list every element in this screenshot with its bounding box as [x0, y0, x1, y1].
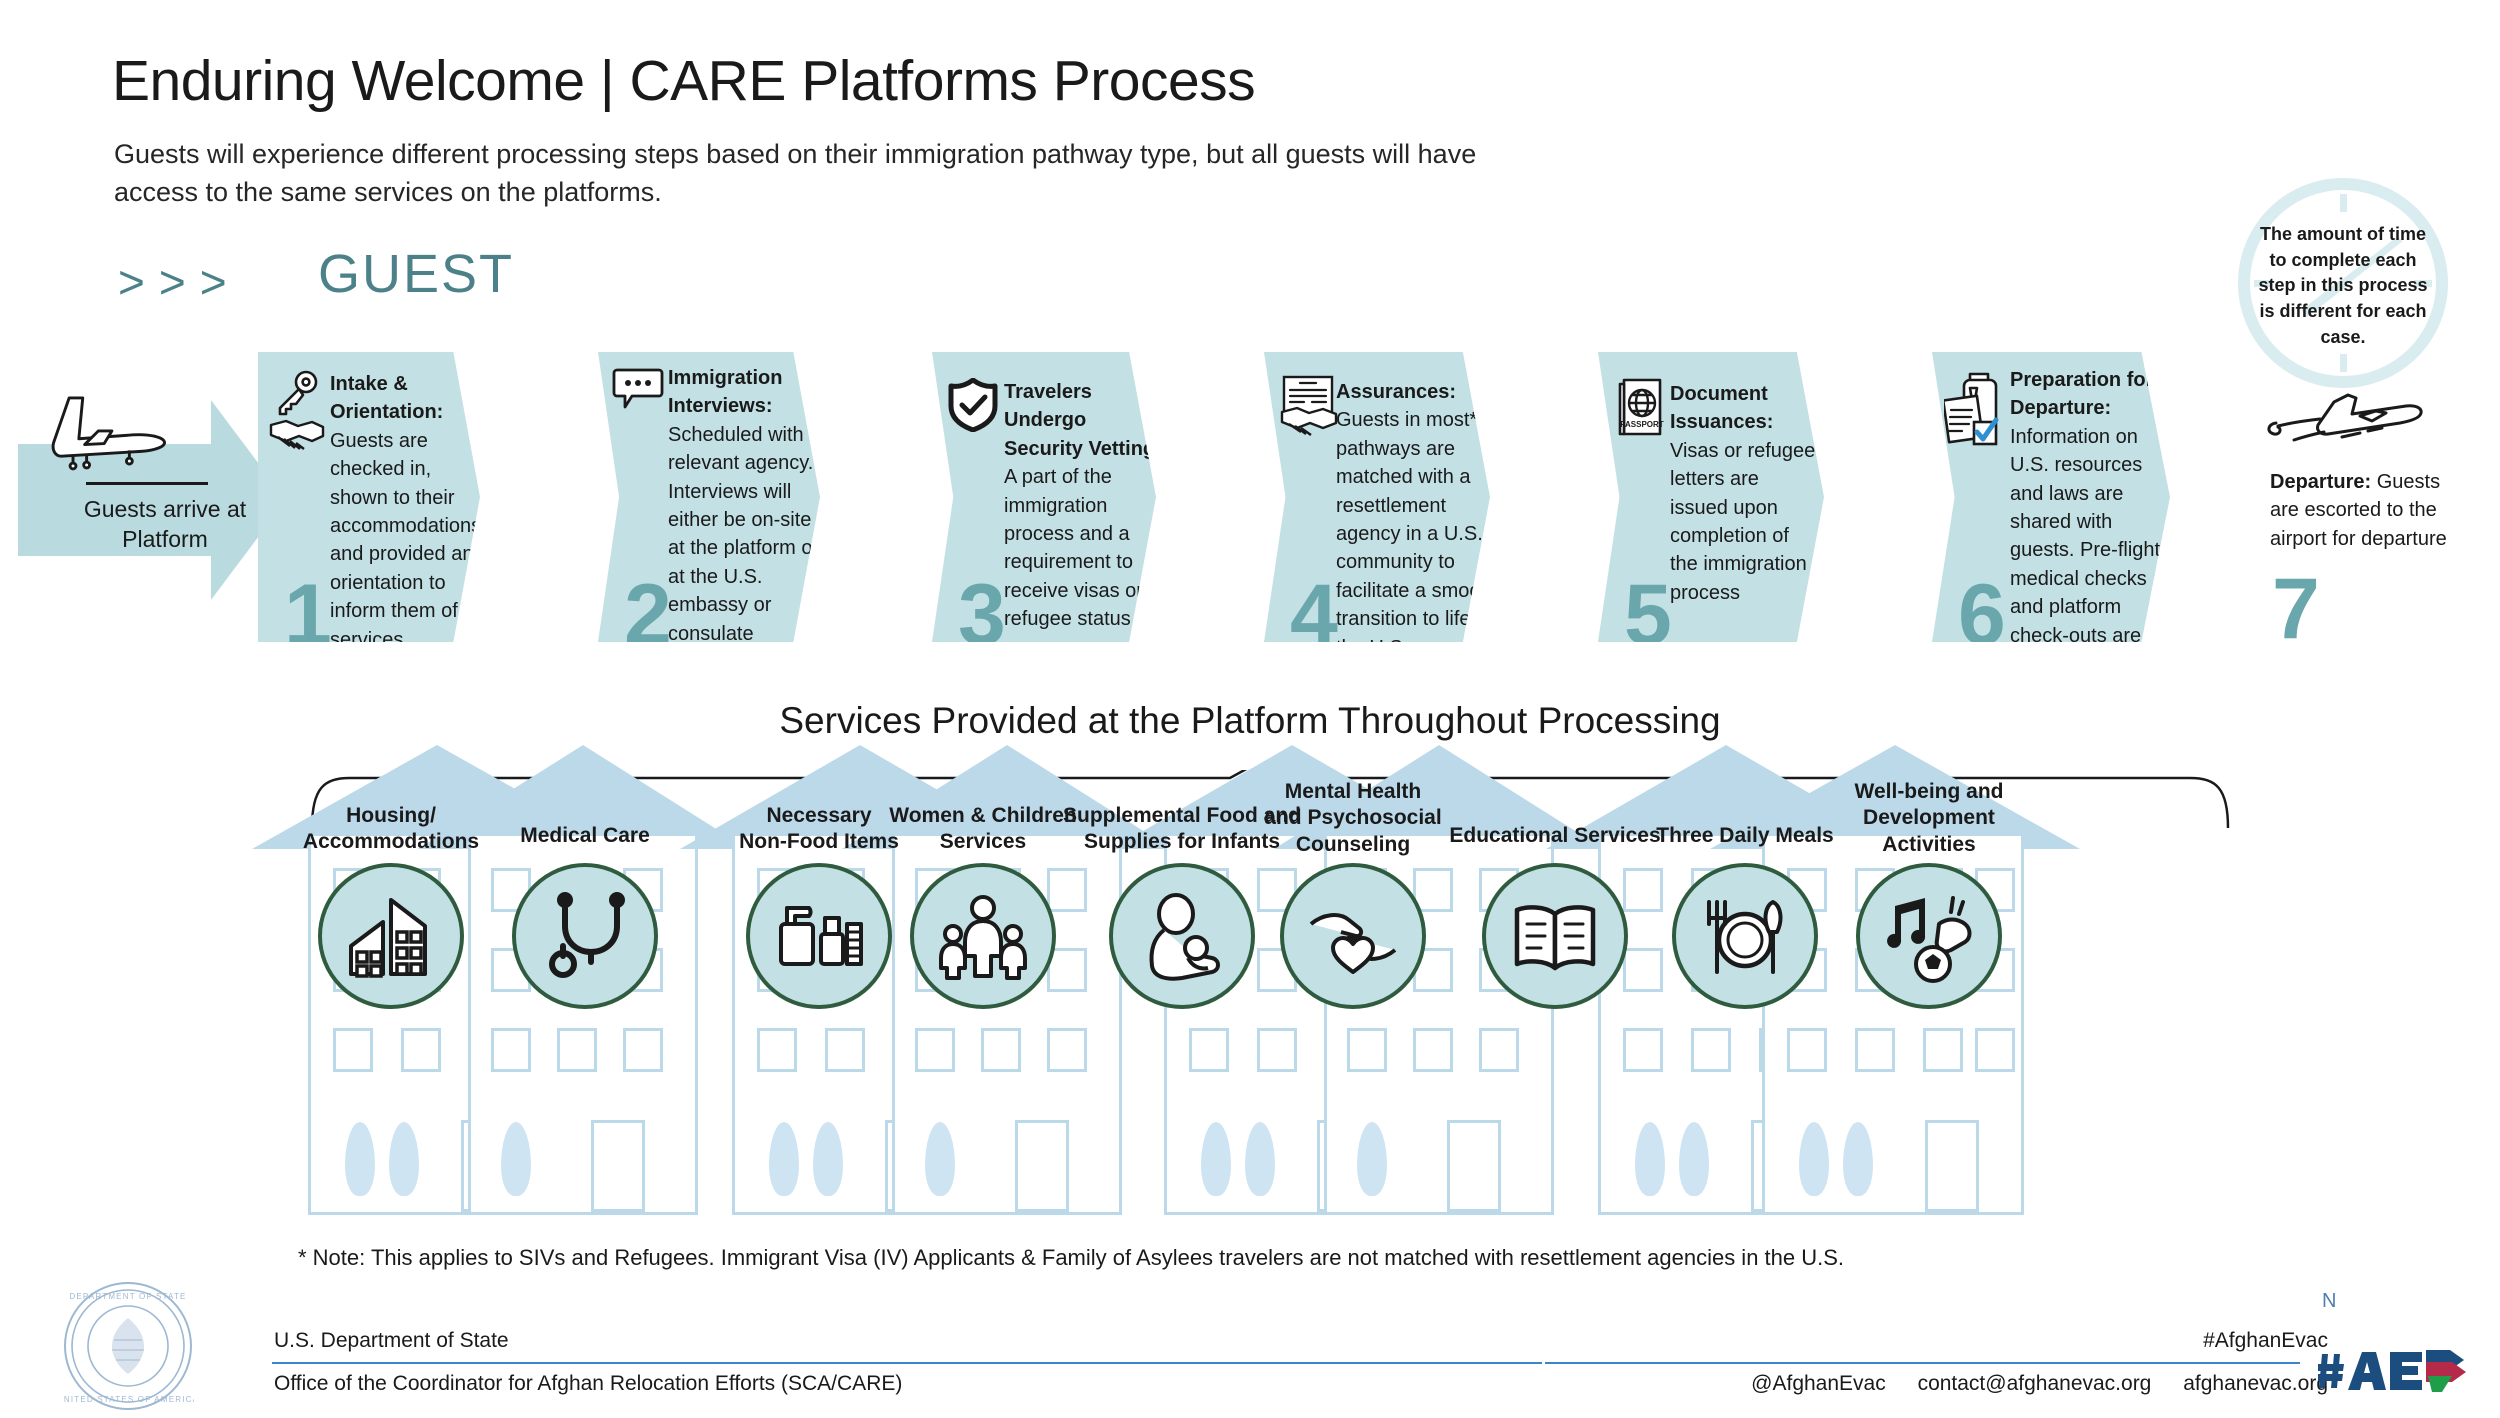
process-step-7[interactable]: Departure: Guests are escorted to the ai… — [2250, 400, 2500, 640]
step-1-body: Intake & Orientation: Guests are checked… — [330, 370, 478, 711]
step-3-number: 3 — [958, 572, 1006, 658]
step-1-text: Guests are checked in, shown to their ac… — [330, 430, 487, 708]
footer-website[interactable]: afghanevac.org — [2183, 1372, 2328, 1395]
process-step-4[interactable]: Assurances: Guests in most* pathways are… — [1264, 352, 1490, 642]
step-4-body: Assurances: Guests in most* pathways are… — [1336, 378, 1500, 662]
step-5-number: 5 — [1624, 572, 1672, 658]
clock-tick-icon — [2340, 354, 2347, 372]
step-4-text: Guests in most* pathways are matched wit… — [1336, 409, 1497, 658]
service-medical-care[interactable]: Medical Care — [460, 745, 710, 1045]
arrival-arrow: Guests arrive at Platform — [18, 400, 286, 600]
plate-cutlery-icon — [1672, 863, 1818, 1009]
arrival-caption: Guests arrive at Platform — [70, 495, 260, 555]
handshake-icon — [268, 414, 326, 456]
luggage-checklist-icon — [1944, 370, 2006, 448]
hands-heart-icon — [1280, 863, 1426, 1009]
department-of-state-seal: DEPARTMENT OF STATE UNITED STATES OF AME… — [62, 1280, 194, 1412]
clock-note-text: The amount of time to complete each step… — [2250, 222, 2436, 351]
clock-note: The amount of time to complete each step… — [2238, 178, 2448, 388]
services-section-title: Services Provided at the Platform Throug… — [0, 700, 2500, 742]
afghanevac-logo — [2318, 1340, 2468, 1402]
footer-office: Office of the Coordinator for Afghan Rel… — [274, 1372, 902, 1396]
airplane-landing-icon — [40, 388, 176, 472]
footnote: * Note: This applies to SIVs and Refugee… — [298, 1245, 1844, 1271]
step-3-text: A part of the immigration process and a … — [1004, 466, 1143, 630]
footer-handle[interactable]: @AfghanEvac — [1751, 1372, 1886, 1395]
music-ball-icon — [1856, 863, 2002, 1009]
step-5-body: Document Issuances: Visas or refugee let… — [1670, 380, 1822, 607]
infographic-canvas: Enduring Welcome | CARE Platforms Proces… — [0, 0, 2500, 1418]
footer-email[interactable]: contact@afghanevac.org — [1918, 1372, 2152, 1395]
process-step-6[interactable]: Preparation for Departure: Information o… — [1932, 352, 2170, 642]
step-2-number: 2 — [624, 572, 672, 658]
process-step-5[interactable]: PASSPORT Document Issuances: Visas or re… — [1598, 352, 1824, 642]
shield-check-icon — [948, 378, 998, 432]
step-7-heading: Departure: — [2270, 471, 2371, 493]
key-icon — [272, 368, 322, 418]
process-step-1[interactable]: Intake & Orientation: Guests are checked… — [258, 352, 480, 642]
step-7-body: Departure: Guests are escorted to the ai… — [2270, 468, 2470, 553]
n-mark: N — [2322, 1290, 2336, 1313]
footer-hashtag: #AfghanEvac — [2203, 1329, 2328, 1353]
step-6-number: 6 — [1958, 572, 2006, 658]
step-2-heading: Immigration Interviews: — [668, 367, 782, 417]
page-subtitle: Guests will experience different process… — [114, 135, 1514, 212]
service-label: Medical Care — [520, 823, 650, 849]
footer-rule — [272, 1362, 1542, 1364]
footer-rule — [1545, 1362, 2300, 1364]
stethoscope-icon — [512, 863, 658, 1009]
step-6-body: Preparation for Departure: Information o… — [2010, 366, 2175, 707]
chevron-arrows-icon: >>> — [118, 255, 241, 309]
service-wellbeing-development[interactable]: Well-being andDevelopmentActivities — [1804, 745, 2054, 1045]
step-3-body: Travelers Undergo Security Vetting: A pa… — [1004, 378, 1162, 634]
process-step-2[interactable]: Immigration Interviews: Scheduled with r… — [598, 352, 820, 642]
svg-text:UNITED STATES OF AMERICA: UNITED STATES OF AMERICA — [62, 1395, 194, 1404]
svg-text:DEPARTMENT OF STATE: DEPARTMENT OF STATE — [69, 1292, 186, 1301]
step-1-heading: Intake & Orientation: — [330, 373, 443, 423]
step-7-number: 7 — [2272, 566, 2320, 652]
svg-text:PASSPORT: PASSPORT — [1620, 420, 1664, 429]
step-6-heading: Preparation for Departure: — [2010, 369, 2153, 419]
airplane-takeoff-icon — [2264, 392, 2424, 462]
caption-rule — [86, 482, 208, 485]
step-3-heading: Travelers Undergo Security Vetting: — [1004, 381, 1162, 460]
process-step-3[interactable]: Travelers Undergo Security Vetting: A pa… — [932, 352, 1156, 642]
step-5-text: Visas or refugee letters are issued upon… — [1670, 440, 1815, 604]
speech-bubble-icon — [612, 366, 664, 414]
step-4-heading: Assurances: — [1336, 381, 1456, 403]
document-handshake-icon — [1278, 374, 1340, 438]
footer-contact: @AfghanEvac contact@afghanevac.org afgha… — [1751, 1372, 2328, 1396]
step-1-number: 1 — [284, 572, 332, 658]
service-label: Housing/Accommodations — [303, 803, 479, 856]
platform-services-illustration: Housing/Accommodations — [280, 745, 2240, 1215]
open-book-icon — [1482, 863, 1628, 1009]
service-label: Well-being andDevelopmentActivities — [1855, 779, 2004, 858]
step-4-number: 4 — [1290, 572, 1338, 658]
clock-tick-icon — [2340, 194, 2347, 212]
page-title: Enduring Welcome | CARE Platforms Proces… — [112, 48, 1255, 114]
footer-department: U.S. Department of State — [274, 1329, 509, 1353]
step-6-text: Information on U.S. resources and laws a… — [2010, 426, 2172, 704]
house-buildings-icon — [318, 863, 464, 1009]
step-5-heading: Document Issuances: — [1670, 383, 1773, 433]
passport-icon: PASSPORT — [1614, 376, 1666, 440]
service-label: Mental Healthand PsychosocialCounseling — [1264, 779, 1441, 858]
family-icon — [910, 863, 1056, 1009]
guest-section-label: GUEST — [318, 243, 514, 305]
